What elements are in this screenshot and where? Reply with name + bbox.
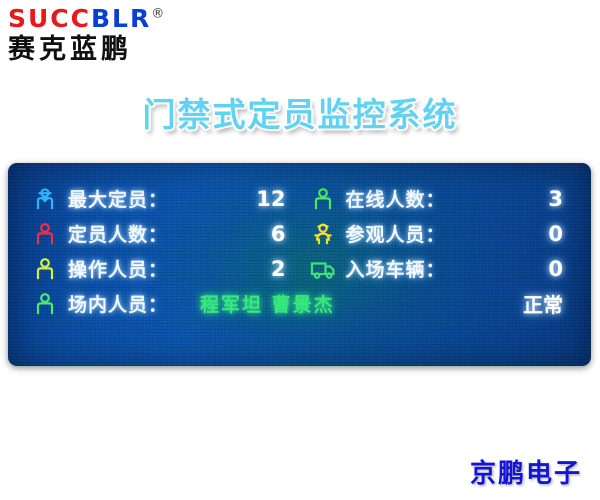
logo-chinese-name: 赛克蓝鹏 <box>8 34 228 65</box>
led-label-vehicles: 入场车辆： <box>346 255 516 282</box>
led-label-operators: 操作人员： <box>68 255 238 282</box>
logo-wordmark-blr: BLR <box>91 4 151 33</box>
led-value-operators: 2 <box>238 257 300 281</box>
worker-helmet-icon <box>300 221 346 247</box>
led-right-column: 在线人数： 3 <box>300 181 578 286</box>
led-row-visitors: 参观人员： 0 <box>300 216 578 251</box>
led-left-column: 最大定员： 12 <box>22 181 300 286</box>
led-label-visitors: 参观人员： <box>346 220 516 247</box>
led-row-assigned-count: 定员人数： 6 <box>22 216 300 251</box>
led-value-online-count: 3 <box>515 187 577 211</box>
led-row-operators: 操作人员： 2 <box>22 251 300 286</box>
person-green-icon <box>300 186 346 212</box>
company-logo: SUCCBLR® 赛克蓝鹏 <box>8 6 228 76</box>
person-outline-icon <box>22 291 68 317</box>
led-display-panel: 最大定员： 12 <box>8 163 591 366</box>
led-row-max-capacity: 最大定员： 12 <box>22 181 300 216</box>
led-label-assigned-count: 定员人数： <box>68 220 238 247</box>
app-root: SUCCBLR® 赛克蓝鹏 门禁式定员监控系统 <box>0 0 600 500</box>
truck-icon <box>300 256 346 282</box>
led-value-onsite-names: 程军坦 曹景杰 <box>168 290 473 317</box>
led-row-onsite-personnel: 场内人员： 程军坦 曹景杰 正常 <box>22 286 577 321</box>
led-columns: 最大定员： 12 <box>22 181 577 286</box>
led-row-online-count: 在线人数： 3 <box>300 181 578 216</box>
led-value-max-capacity: 12 <box>238 187 300 211</box>
person-yellow-icon <box>22 256 68 282</box>
led-row-vehicles: 入场车辆： 0 <box>300 251 578 286</box>
led-label-onsite-personnel: 场内人员： <box>68 290 168 317</box>
footer-company-name: 京鹏电子 <box>470 453 582 490</box>
person-cap-icon <box>22 186 68 212</box>
led-value-assigned-count: 6 <box>238 222 300 246</box>
led-status-badge: 正常 <box>473 289 577 318</box>
logo-wordmark: SUCCBLR® <box>8 6 228 31</box>
logo-wordmark-succ: SUCC <box>8 4 91 33</box>
led-value-vehicles: 0 <box>515 257 577 281</box>
page-title: 门禁式定员监控系统 <box>0 88 600 136</box>
led-label-max-capacity: 最大定员： <box>68 185 238 212</box>
led-value-visitors: 0 <box>515 222 577 246</box>
led-label-online-count: 在线人数： <box>346 185 516 212</box>
registered-trademark-icon: ® <box>151 7 164 22</box>
person-red-icon <box>22 221 68 247</box>
